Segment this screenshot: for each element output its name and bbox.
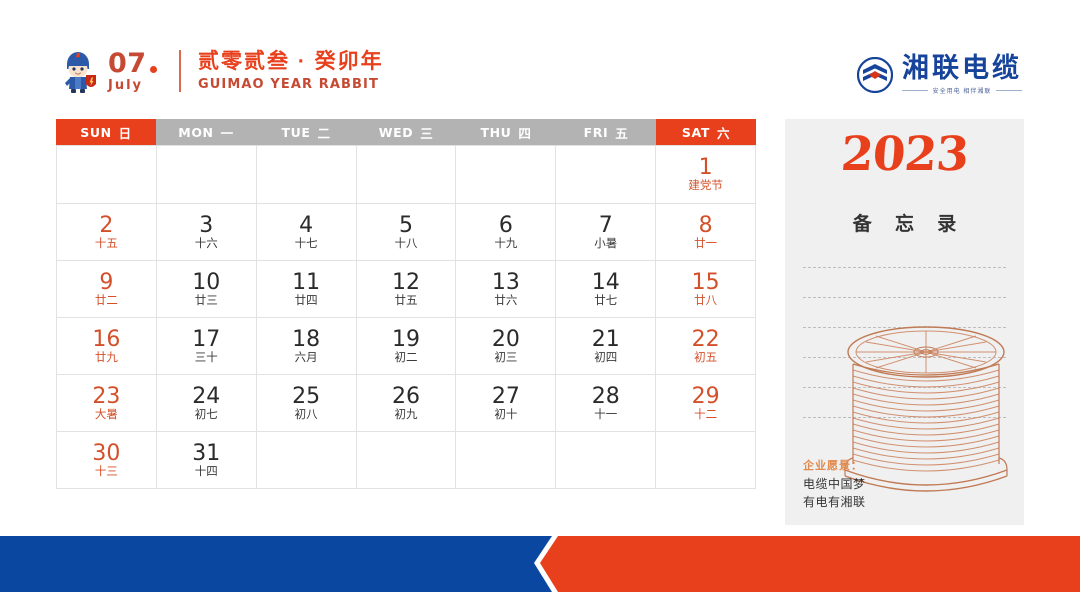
vision-label: 企业愿景： [803, 457, 866, 473]
calendar-day-cell-empty [556, 146, 656, 204]
calendar-day-cell[interactable]: 8廿一 [656, 204, 756, 261]
day-number: 15 [692, 271, 720, 294]
calendar-day-cell[interactable]: 5十八 [357, 204, 457, 261]
day-number: 9 [99, 271, 113, 294]
weekday-cn: 日 [119, 123, 132, 142]
day-lunar-label: 初十 [494, 410, 517, 422]
weekday-cn: 三 [420, 123, 433, 142]
calendar-day-cell[interactable]: 22初五 [656, 318, 756, 375]
calendar-days-grid: 1建党节2十五3十六4十七5十八6十九7小暑8廿一9廿二10廿三11廿四12廿五… [56, 145, 756, 489]
calendar-day-cell[interactable]: 15廿八 [656, 261, 756, 318]
company-tagline: 安全用电 相伴湘联 [928, 86, 997, 95]
calendar-day-cell[interactable]: 29十二 [656, 375, 756, 432]
weekday-en: SAT [682, 125, 710, 140]
weekday-en: WED [379, 125, 414, 140]
day-lunar-label: 十四 [195, 467, 218, 479]
calendar-day-cell[interactable]: 6十九 [456, 204, 556, 261]
day-lunar-label: 廿四 [295, 296, 318, 308]
day-lunar-label: 廿七 [594, 296, 617, 308]
calendar-day-cell[interactable]: 24初七 [157, 375, 257, 432]
day-lunar-label: 初五 [694, 353, 717, 365]
day-lunar-label: 小暑 [594, 239, 617, 251]
day-lunar-label: 廿五 [395, 296, 418, 308]
calendar-day-cell[interactable]: 12廿五 [357, 261, 457, 318]
day-number: 23 [92, 385, 120, 408]
calendar-day-cell[interactable]: 4十七 [257, 204, 357, 261]
calendar-day-cell[interactable]: 7小暑 [556, 204, 656, 261]
calendar-day-cell-empty [357, 432, 457, 489]
footer-blue-band [0, 536, 552, 592]
calendar-day-cell[interactable]: 14廿七 [556, 261, 656, 318]
calendar-day-cell-empty [357, 146, 457, 204]
electric-mascot-icon [56, 48, 100, 94]
day-number: 4 [299, 214, 313, 237]
day-lunar-label: 廿二 [95, 296, 118, 308]
calendar-day-cell[interactable]: 26初九 [357, 375, 457, 432]
calendar-day-cell-empty [257, 432, 357, 489]
day-number: 24 [192, 385, 220, 408]
calendar-day-cell[interactable]: 28十一 [556, 375, 656, 432]
calendar-day-cell[interactable]: 1建党节 [656, 146, 756, 204]
weekday-header-wed: WED三 [356, 119, 456, 145]
day-number: 12 [392, 271, 420, 294]
calendar-day-cell-empty [456, 432, 556, 489]
weekday-header-fri: FRI五 [556, 119, 656, 145]
memo-panel: 2023 备 忘 录 [785, 119, 1024, 525]
tagline-rule-left [902, 90, 928, 91]
day-number: 6 [499, 214, 513, 237]
day-lunar-label: 廿一 [694, 239, 717, 251]
day-number: 8 [699, 214, 713, 237]
footer-red-band [540, 536, 1080, 592]
day-lunar-label: 廿六 [494, 296, 517, 308]
day-number: 11 [292, 271, 320, 294]
calendar-week-row: 30十三31十四 [57, 432, 756, 489]
month-dot-marker [150, 66, 157, 73]
calendar-day-cell[interactable]: 23大暑 [57, 375, 157, 432]
corporate-vision-block: 企业愿景： 电缆中国梦 有电有湘联 [803, 457, 866, 511]
weekday-header-sun: SUN日 [56, 119, 156, 145]
day-number: 19 [392, 328, 420, 351]
day-lunar-label: 十八 [395, 239, 418, 251]
calendar-day-cell[interactable]: 17三十 [157, 318, 257, 375]
day-lunar-label: 初七 [195, 410, 218, 422]
day-number: 7 [599, 214, 613, 237]
day-lunar-label: 建党节 [688, 181, 723, 193]
day-number: 22 [692, 328, 720, 351]
day-number: 10 [192, 271, 220, 294]
weekday-header-thu: THU四 [456, 119, 556, 145]
day-lunar-label: 十一 [594, 410, 617, 422]
calendar: SUN日MON一TUE二WED三THU四FRI五SAT六 1建党节2十五3十六4… [56, 119, 756, 489]
day-number: 13 [492, 271, 520, 294]
brand-block: 07 July 贰零贰叁 · 癸卯年 GUIMAO YEAR RABBIT [56, 48, 384, 94]
weekday-header-row: SUN日MON一TUE二WED三THU四FRI五SAT六 [56, 119, 756, 145]
memo-line[interactable] [803, 297, 1006, 298]
day-number: 21 [592, 328, 620, 351]
header-divider [179, 50, 181, 92]
day-lunar-label: 十三 [95, 467, 118, 479]
weekday-en: SUN [80, 125, 111, 140]
footer-bar [0, 536, 1080, 592]
day-number: 28 [592, 385, 620, 408]
day-number: 29 [692, 385, 720, 408]
year-artwork-2023: 2023 [785, 131, 1024, 178]
page-header: 07 July 贰零贰叁 · 癸卯年 GUIMAO YEAR RABBIT 湘联… [0, 0, 1080, 118]
calendar-day-cell[interactable]: 30十三 [57, 432, 157, 489]
weekday-cn: 五 [615, 123, 628, 142]
calendar-day-cell[interactable]: 3十六 [157, 204, 257, 261]
weekday-header-tue: TUE二 [256, 119, 356, 145]
day-number: 27 [492, 385, 520, 408]
day-lunar-label: 十二 [694, 410, 717, 422]
tagline-rule-right [996, 90, 1022, 91]
weekday-en: TUE [281, 125, 310, 140]
calendar-day-cell-empty [556, 432, 656, 489]
day-lunar-label: 初二 [395, 353, 418, 365]
calendar-day-cell[interactable]: 10廿三 [157, 261, 257, 318]
calendar-day-cell[interactable]: 25初八 [257, 375, 357, 432]
month-block: 07 July [108, 50, 170, 93]
calendar-day-cell[interactable]: 18六月 [257, 318, 357, 375]
day-number: 2 [99, 214, 113, 237]
calendar-week-row: 16廿九17三十18六月19初二20初三21初四22初五 [57, 318, 756, 375]
calendar-day-cell[interactable]: 2十五 [57, 204, 157, 261]
calendar-day-cell-empty [57, 146, 157, 204]
weekday-en: FRI [584, 125, 609, 140]
day-lunar-label: 大暑 [95, 410, 118, 422]
day-lunar-label: 廿三 [195, 296, 218, 308]
day-number: 30 [92, 442, 120, 465]
day-lunar-label: 十七 [295, 239, 318, 251]
day-number: 26 [392, 385, 420, 408]
day-number: 16 [92, 328, 120, 351]
day-lunar-label: 初九 [395, 410, 418, 422]
calendar-day-cell-empty [456, 146, 556, 204]
memo-line[interactable] [803, 267, 1006, 268]
year-block: 贰零贰叁 · 癸卯年 GUIMAO YEAR RABBIT [198, 50, 384, 92]
calendar-day-cell[interactable]: 9廿二 [57, 261, 157, 318]
day-lunar-label: 廿八 [694, 296, 717, 308]
calendar-week-row: 1建党节 [57, 146, 756, 204]
weekday-en: THU [480, 125, 511, 140]
weekday-en: MON [178, 125, 213, 140]
weekday-cn: 四 [518, 123, 531, 142]
calendar-day-cell[interactable]: 16廿九 [57, 318, 157, 375]
day-number: 20 [492, 328, 520, 351]
day-number: 5 [399, 214, 413, 237]
month-number: 07 [108, 50, 147, 77]
vision-line-1: 电缆中国梦 [803, 476, 866, 493]
day-lunar-label: 廿九 [95, 353, 118, 365]
day-lunar-label: 十五 [95, 239, 118, 251]
day-lunar-label: 初八 [295, 410, 318, 422]
day-number: 17 [192, 328, 220, 351]
calendar-week-row: 23大暑24初七25初八26初九27初十28十一29十二 [57, 375, 756, 432]
day-number: 1 [699, 156, 713, 179]
weekday-cn: 六 [717, 123, 730, 142]
calendar-day-cell[interactable]: 13廿六 [456, 261, 556, 318]
day-number: 14 [592, 271, 620, 294]
calendar-day-cell[interactable]: 20初三 [456, 318, 556, 375]
month-name: July [108, 78, 170, 93]
day-number: 18 [292, 328, 320, 351]
calendar-day-cell-empty [656, 432, 756, 489]
weekday-cn: 二 [317, 123, 330, 142]
weekday-header-mon: MON一 [156, 119, 256, 145]
year-chinese: 贰零贰叁 · 癸卯年 [198, 50, 384, 74]
day-lunar-label: 十九 [494, 239, 517, 251]
xianglian-diamond-logo-icon [857, 57, 893, 93]
calendar-day-cell-empty [257, 146, 357, 204]
calendar-week-row: 9廿二10廿三11廿四12廿五13廿六14廿七15廿八 [57, 261, 756, 318]
company-name: 湘联电缆 [902, 55, 1022, 82]
calendar-day-cell-empty [157, 146, 257, 204]
weekday-cn: 一 [221, 123, 234, 142]
weekday-header-sat: SAT六 [656, 119, 756, 145]
day-lunar-label: 十六 [195, 239, 218, 251]
year-english: GUIMAO YEAR RABBIT [198, 77, 384, 92]
company-logo: 湘联电缆 安全用电 相伴湘联 [857, 55, 1022, 95]
day-lunar-label: 初四 [594, 353, 617, 365]
day-number: 3 [199, 214, 213, 237]
day-lunar-label: 三十 [195, 353, 218, 365]
vision-line-2: 有电有湘联 [803, 494, 866, 511]
calendar-day-cell[interactable]: 21初四 [556, 318, 656, 375]
day-number: 31 [192, 442, 220, 465]
calendar-day-cell[interactable]: 11廿四 [257, 261, 357, 318]
calendar-week-row: 2十五3十六4十七5十八6十九7小暑8廿一 [57, 204, 756, 261]
day-number: 25 [292, 385, 320, 408]
calendar-day-cell[interactable]: 27初十 [456, 375, 556, 432]
day-lunar-label: 六月 [295, 353, 318, 365]
memo-title: 备 忘 录 [785, 209, 1024, 236]
company-logo-text: 湘联电缆 安全用电 相伴湘联 [902, 55, 1022, 95]
day-lunar-label: 初三 [494, 353, 517, 365]
calendar-day-cell[interactable]: 19初二 [357, 318, 457, 375]
calendar-day-cell[interactable]: 31十四 [157, 432, 257, 489]
